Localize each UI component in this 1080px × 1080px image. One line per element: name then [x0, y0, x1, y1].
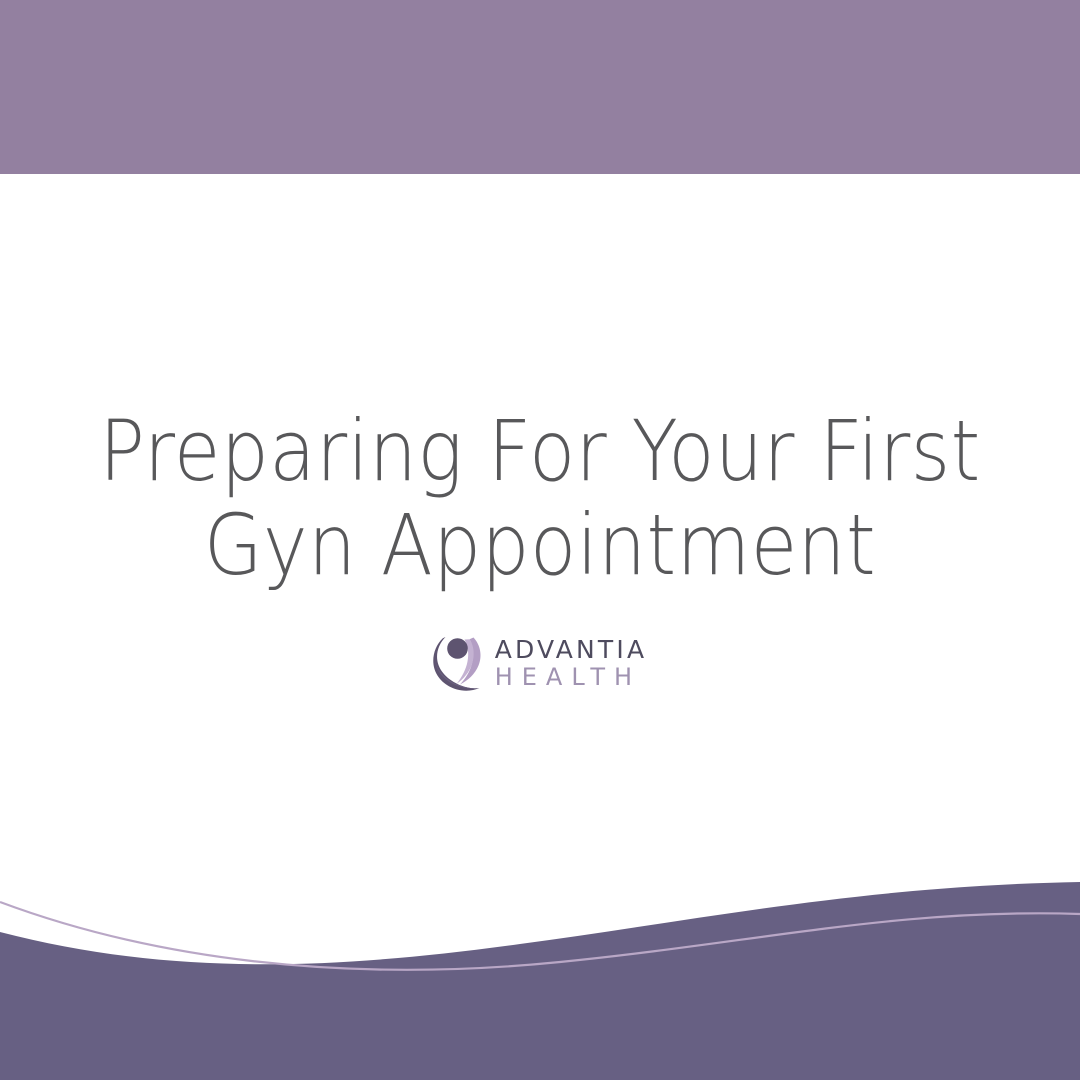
slide-canvas: Preparing For Your First Gyn Appointment…: [0, 0, 1080, 1080]
logo-word-advantia: ADVANTIA: [495, 636, 648, 663]
logo-word-health: HEALTH: [495, 663, 641, 691]
advantia-figure-icon: [433, 634, 485, 692]
title-line-1: Preparing For Your First: [90, 404, 990, 498]
bottom-wave-decoration: [0, 880, 1080, 1080]
logo-wordmark: ADVANTIA HEALTH: [495, 636, 648, 691]
mark-head: [447, 638, 468, 659]
title-line-2: Gyn Appointment: [90, 498, 990, 592]
advantia-health-logo: ADVANTIA HEALTH: [433, 634, 648, 692]
page-title: Preparing For Your First Gyn Appointment: [40, 404, 1040, 592]
top-purple-band: [0, 0, 1080, 174]
wave-fill: [0, 882, 1080, 1080]
advantia-figure-icon-svg: [433, 634, 485, 692]
